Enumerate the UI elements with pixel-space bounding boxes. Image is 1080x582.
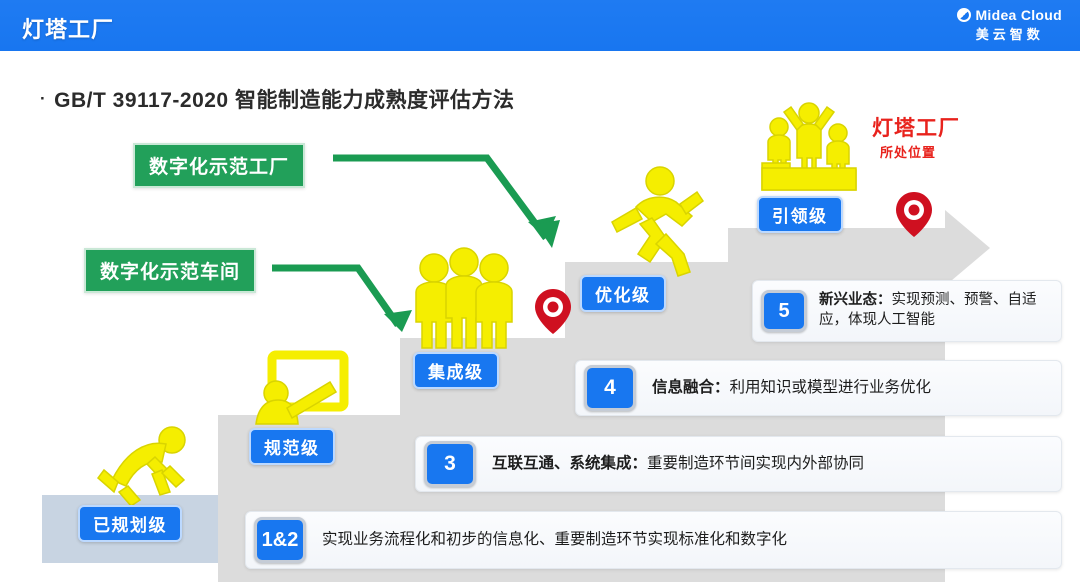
- level-badge: 4: [584, 365, 636, 411]
- stage-label-standard[interactable]: 规范级: [249, 428, 335, 465]
- stage-label-leading[interactable]: 引领级: [757, 196, 843, 233]
- callout-label: 数字化示范车间: [100, 262, 240, 283]
- stage-label-text: 集成级: [428, 363, 484, 382]
- level-description-text: 重要制造环节间实现内外部协同: [647, 455, 864, 472]
- level-description-bold: 新兴业态：: [819, 292, 892, 308]
- annotation-title: 灯塔工厂: [872, 112, 960, 142]
- callout-digital-demo-workshop[interactable]: 数字化示范车间: [84, 248, 256, 293]
- stage-label-planned[interactable]: 已规划级: [78, 505, 182, 542]
- level-badge: 3: [424, 441, 476, 487]
- stage-label-text: 规范级: [264, 439, 320, 458]
- slide-canvas: 灯塔工厂 Midea Cloud 美云智数 ·GB/T 39117-2020 智…: [0, 0, 1080, 582]
- level-description: 新兴业态：实现预测、预警、自适应，体现人工智能: [807, 291, 1061, 330]
- person-at-whiteboard-icon: [256, 355, 344, 424]
- stage-label-text: 引领级: [772, 207, 828, 226]
- level-description-bold: 信息融合：: [652, 379, 730, 396]
- stage-label-optimized[interactable]: 优化级: [580, 275, 666, 312]
- stage-label-text: 已规划级: [93, 516, 167, 535]
- level-description: 信息融合：利用知识或模型进行业务优化: [636, 377, 1061, 399]
- level-badge: 1&2: [254, 517, 306, 563]
- level-row-1-2[interactable]: 1&2 实现业务流程化和初步的信息化、重要制造环节实现标准化和数字化: [245, 511, 1062, 569]
- stage-label-integrated[interactable]: 集成级: [413, 352, 499, 389]
- level-description-bold: 互联互通、系统集成：: [492, 455, 647, 472]
- crawling-person-icon: [98, 427, 185, 506]
- level-badge: 5: [761, 290, 807, 332]
- running-person-icon: [612, 167, 703, 276]
- callout-digital-demo-factory[interactable]: 数字化示范工厂: [133, 143, 305, 188]
- stage-label-text: 优化级: [595, 286, 651, 305]
- annotation-subtitle: 所处位置: [880, 142, 936, 161]
- green-arrow-workshop: [272, 268, 398, 325]
- three-people-icon: [416, 248, 512, 348]
- level-description: 实现业务流程化和初步的信息化、重要制造环节实现标准化和数字化: [306, 529, 1061, 551]
- level-row-3[interactable]: 3 互联互通、系统集成：重要制造环节间实现内外部协同: [415, 436, 1062, 492]
- podium-winners-icon: [762, 103, 856, 190]
- green-arrow-factory: [333, 158, 546, 238]
- level-row-4[interactable]: 4 信息融合：利用知识或模型进行业务优化: [575, 360, 1062, 416]
- level-description: 互联互通、系统集成：重要制造环节间实现内外部协同: [476, 453, 1061, 475]
- level-description-text: 利用知识或模型进行业务优化: [730, 379, 932, 396]
- level-description-text: 实现业务流程化和初步的信息化、重要制造环节实现标准化和数字化: [322, 531, 787, 548]
- level-row-5[interactable]: 5 新兴业态：实现预测、预警、自适应，体现人工智能: [752, 280, 1062, 342]
- callout-label: 数字化示范工厂: [149, 157, 289, 178]
